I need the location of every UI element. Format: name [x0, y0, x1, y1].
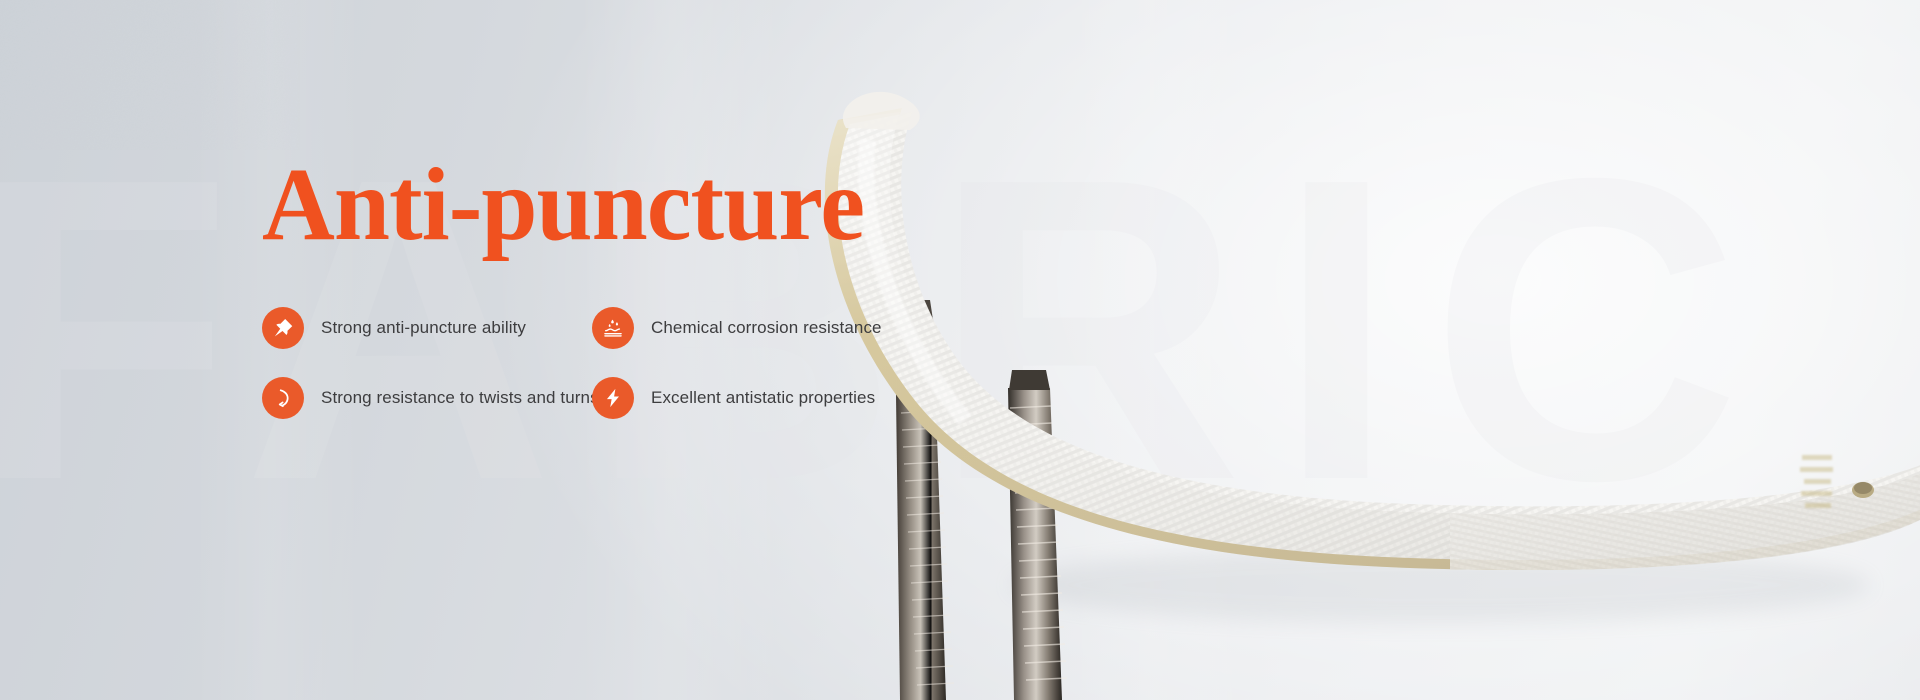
- feature-label: Excellent antistatic properties: [651, 388, 875, 408]
- pushpin-icon: [262, 307, 304, 349]
- plate-heel-hole: [1852, 482, 1874, 498]
- plate-heel-weave: [1450, 430, 1920, 590]
- feature-label: Strong anti-puncture ability: [321, 318, 526, 338]
- lightning-bolt-icon: [592, 377, 634, 419]
- feature-label: Strong resistance to twists and turns: [321, 388, 599, 408]
- plate-heel-hole-inner: [1854, 482, 1872, 494]
- page-title: Anti-puncture: [262, 150, 1135, 259]
- feature-item-chemical-resistance[interactable]: Chemical corrosion resistance: [592, 307, 922, 349]
- chemical-droplet-icon: [592, 307, 634, 349]
- background-noise-texture: [0, 0, 300, 150]
- feature-label: Chemical corrosion resistance: [651, 318, 882, 338]
- plate-stamp-marking: [1800, 455, 1833, 508]
- feature-item-anti-puncture[interactable]: Strong anti-puncture ability: [262, 307, 592, 349]
- copy-block: Anti-puncture Strong anti-puncture abili…: [262, 150, 1162, 419]
- anti-puncture-banner: FABRIC FABRIC: [0, 0, 1920, 700]
- feature-list: Strong anti-puncture ability Chemical co…: [262, 307, 1162, 419]
- product-shadow: [1010, 547, 1870, 623]
- feature-item-twist-resistance[interactable]: Strong resistance to twists and turns: [262, 377, 592, 419]
- feature-item-antistatic[interactable]: Excellent antistatic properties: [592, 377, 922, 419]
- nail-right: [1008, 370, 1067, 700]
- twist-arrow-icon: [262, 377, 304, 419]
- plate-toe-cap: [843, 92, 920, 130]
